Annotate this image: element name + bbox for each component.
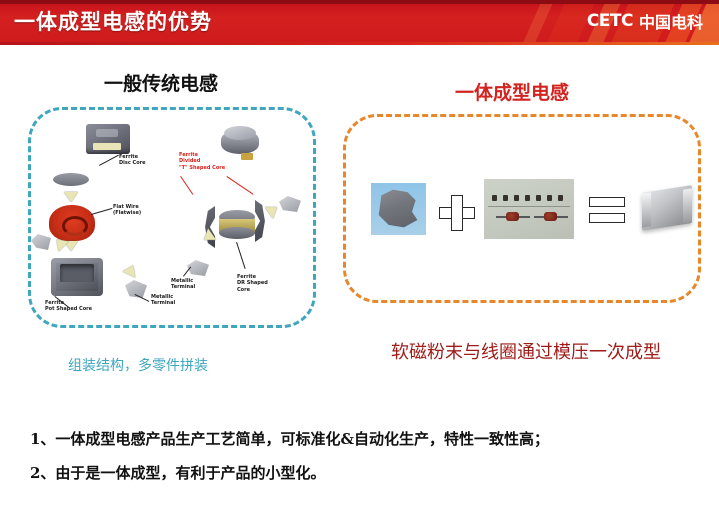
bullet-point-2: 2、由于是一体成型，有利于产品的小型化。 xyxy=(30,462,325,483)
right-panel-caption: 软磁粉末与线圈通过模压一次成型 xyxy=(391,338,661,364)
molding-process-equation xyxy=(346,117,698,300)
traditional-inductor-diagram-box: Ferrite Disc Core Flat Wire (Flatwise) F… xyxy=(28,107,316,328)
label-metallic-terminal: Metallic Terminal xyxy=(151,294,175,307)
cetc-logo: CETC 中国电科 xyxy=(587,9,703,33)
logo-chinese-name: 中国电科 xyxy=(639,9,703,33)
plus-sign-icon xyxy=(439,195,473,229)
bullet-point-1: 1、一体成型电感产品生产工艺简单，可标准化&自动化生产，特性一致性高； xyxy=(30,428,549,449)
header-top-strip xyxy=(0,0,719,4)
assembly-arrow-icon xyxy=(265,201,281,218)
metallic-terminal-part xyxy=(31,234,51,250)
left-panel-title: 一般传统电感 xyxy=(104,69,218,96)
molded-inductor-diagram-box xyxy=(343,114,701,303)
metallic-terminal-part xyxy=(279,196,301,212)
exploded-inductor-diagrams: Ferrite Disc Core Flat Wire (Flatwise) F… xyxy=(31,110,313,325)
page-header: 一体成型电感的优势 CETC 中国电科 xyxy=(0,0,719,42)
assembly-arrow-icon xyxy=(123,263,140,278)
label-flat-wire: Flat Wire (Flatwise) xyxy=(113,204,141,217)
assembly-arrow-icon xyxy=(64,192,78,202)
label-metallic-terminal: Metallic Terminal xyxy=(171,278,195,291)
right-panel-title: 一体成型电感 xyxy=(455,78,569,105)
flat-wire-part xyxy=(49,205,95,241)
drum-inductor-photo xyxy=(221,126,259,158)
page-title: 一体成型电感的优势 xyxy=(14,6,212,36)
ferrite-disc-core-part xyxy=(53,173,89,186)
label-ferrite-disc-core: Ferrite Disc Core xyxy=(119,154,146,167)
left-panel-caption: 组装结构，多零件拼装 xyxy=(68,355,208,375)
logo-wordmark: CETC xyxy=(587,11,633,31)
shielded-inductor-photo xyxy=(86,124,130,154)
header-underline xyxy=(0,42,719,45)
equals-sign-icon xyxy=(589,197,623,223)
ferrite-pot-shaped-core-part xyxy=(51,258,103,296)
label-ferrite-pot-shaped-core: Ferrite Pot Shaped Core xyxy=(45,300,92,313)
ferrite-dr-shaped-core-part xyxy=(219,210,255,240)
label-ferrite-dr-shaped-core: Ferrite DR Shaped Core xyxy=(237,274,268,293)
molded-inductor-chip-photo xyxy=(636,179,698,237)
label-ferrite-divided-t-shaped-core: Ferrite Divided "T" Shaped Core xyxy=(179,152,225,171)
soft-magnetic-powder-photo xyxy=(371,183,426,235)
coil-strip-photo xyxy=(484,179,574,239)
